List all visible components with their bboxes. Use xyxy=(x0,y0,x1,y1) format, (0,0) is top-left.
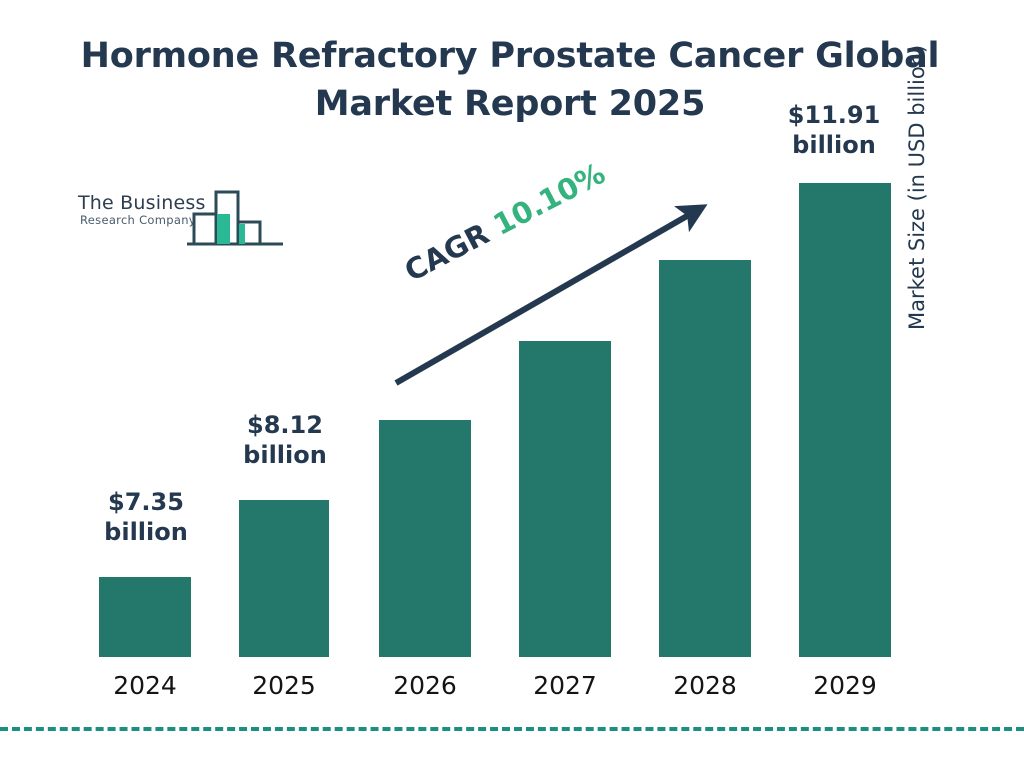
x-axis-tick-2026: 2026 xyxy=(365,671,485,700)
bar-value-amount: $8.12 xyxy=(247,411,323,439)
y-axis-title: Market Size (in USD billion) xyxy=(905,45,929,330)
x-axis-tick-2027: 2027 xyxy=(505,671,625,700)
bar-2024 xyxy=(99,577,191,657)
bar-value-label-2025: $8.12billion xyxy=(236,410,334,471)
bar-2026 xyxy=(379,420,471,657)
bar-value-amount: $11.91 xyxy=(788,101,881,129)
bar-2027 xyxy=(519,341,611,657)
bar-2028 xyxy=(659,260,751,657)
bar-value-unit: billion xyxy=(236,440,334,470)
bar-value-unit: billion xyxy=(96,517,196,547)
x-axis-tick-2024: 2024 xyxy=(85,671,205,700)
chart-canvas: Hormone Refractory Prostate Cancer Globa… xyxy=(0,0,1024,768)
footer-divider xyxy=(0,727,1024,731)
bar-value-label-2029: $11.91billion xyxy=(784,100,884,161)
bar-2029 xyxy=(799,183,891,657)
x-axis-tick-2029: 2029 xyxy=(785,671,905,700)
bar-2025 xyxy=(239,500,329,657)
x-axis-tick-2028: 2028 xyxy=(645,671,765,700)
bar-value-label-2024: $7.35billion xyxy=(96,487,196,548)
plot-area: $7.35billion2024$8.12billion202520262027… xyxy=(0,0,1024,768)
x-axis-tick-2025: 2025 xyxy=(224,671,344,700)
bar-value-amount: $7.35 xyxy=(108,488,184,516)
bar-value-unit: billion xyxy=(784,130,884,160)
